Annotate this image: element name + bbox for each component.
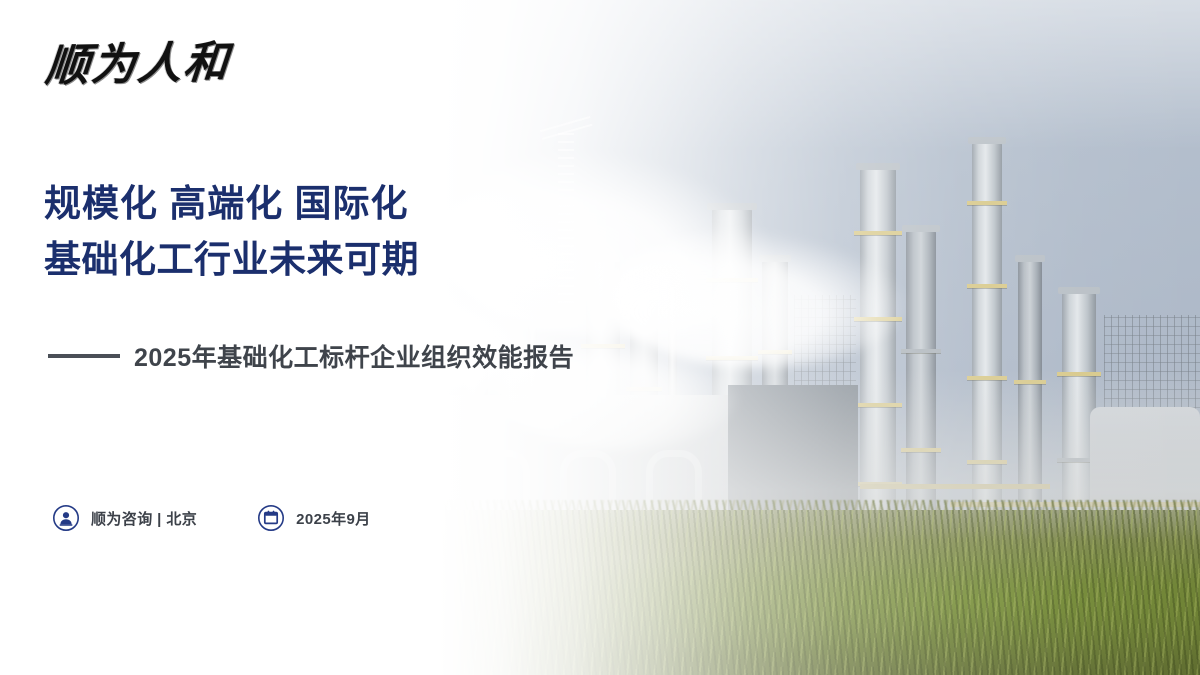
subtitle: 2025年基础化工标杆企业组织效能报告 [48, 338, 574, 374]
slide-meta: 顺为咨询 | 北京 2025年9月 [52, 504, 371, 532]
meta-item-date: 2025年9月 [257, 504, 371, 532]
headline-line-1: 规模化 高端化 国际化 [44, 176, 419, 232]
meta-date-label: 2025年9月 [296, 508, 371, 529]
meta-item-organization: 顺为咨询 | 北京 [52, 504, 197, 532]
brand-logo: 顺为人和 [43, 26, 233, 94]
slide-content: 顺为人和 规模化 高端化 国际化 基础化工行业未来可期 2025年基础化工标杆企… [0, 0, 1200, 675]
calendar-circle-icon [257, 504, 285, 532]
subtitle-dash-rule [48, 354, 120, 358]
headline-line-2: 基础化工行业未来可期 [44, 232, 419, 288]
title-slide: 顺为人和 规模化 高端化 国际化 基础化工行业未来可期 2025年基础化工标杆企… [0, 0, 1200, 675]
meta-organization-label: 顺为咨询 | 北京 [91, 508, 197, 529]
subtitle-text: 2025年基础化工标杆企业组织效能报告 [134, 338, 574, 374]
user-circle-icon [52, 504, 80, 532]
page-title: 规模化 高端化 国际化 基础化工行业未来可期 [44, 176, 419, 288]
